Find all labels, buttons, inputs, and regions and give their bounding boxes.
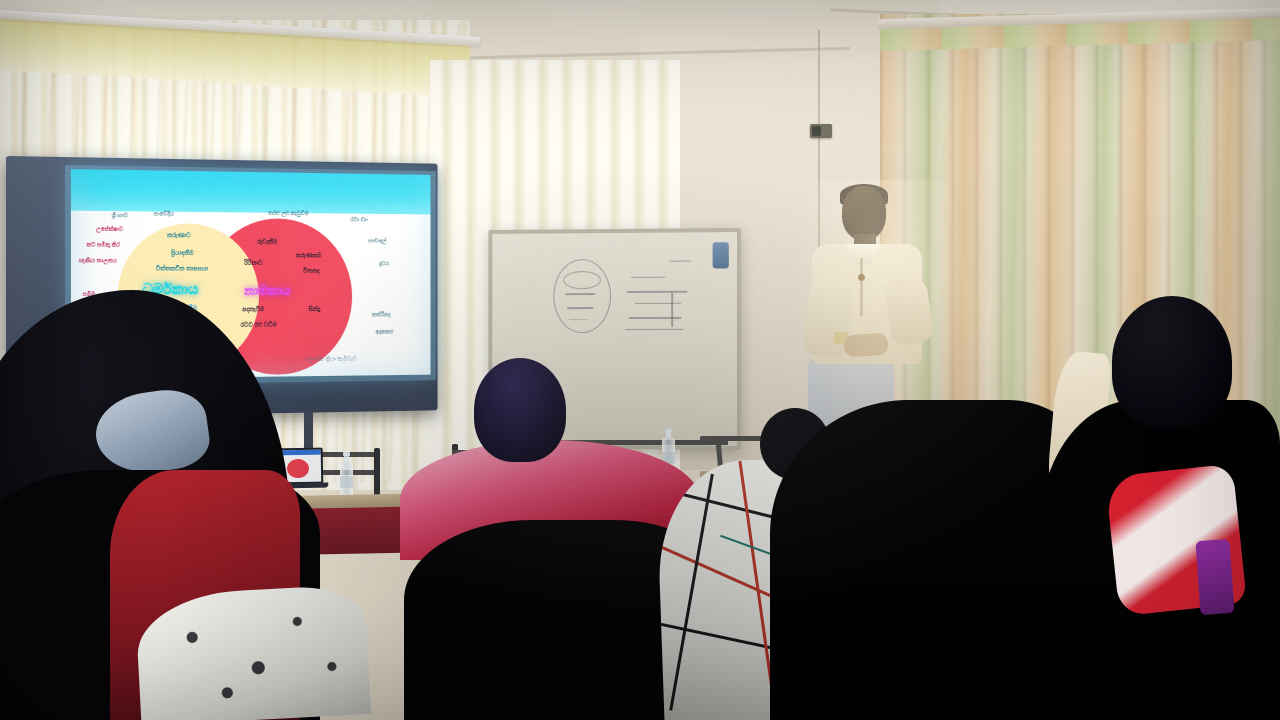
- slide-outer-word: තරඑ ලඑ කැවුවිම: [268, 211, 308, 217]
- slide-inner-word-pink: පදකැවීම: [242, 307, 264, 313]
- attendee-far-right-head: [1112, 296, 1232, 428]
- wall-sensor-device: [810, 124, 832, 138]
- slide-outer-word: ශ්‍රී භාව: [112, 213, 128, 219]
- slide-inner-word-pink: රිරිනාව: [244, 261, 262, 267]
- slide-outer-word: කට සමීකු කිර: [86, 242, 119, 248]
- whiteboard-eraser: [713, 242, 729, 268]
- presenter-shirt-button: [858, 274, 865, 281]
- presenter-right-arm: [884, 275, 935, 346]
- whiteboard-oval-inner: [563, 271, 601, 289]
- slide-inner-word-pink: රුවැකීම: [257, 240, 277, 246]
- photo-scene: ශ්‍රී භාව සංවේදීය උපේක්ෂාව කට සමීකු කිර …: [0, 0, 1280, 720]
- slide-outer-word: ඥාණීය තාලනය: [79, 258, 117, 264]
- slide-inner-word-pink: කරුණකම: [296, 253, 322, 259]
- slide-outer-word: උපේක්ෂාව: [96, 227, 123, 233]
- slide-footer-right: ලෞකික ක්‍රියා කැමිවැඩ: [305, 357, 357, 364]
- chair-post: [374, 448, 380, 500]
- slide-inner-word-pink: සින්දු: [309, 307, 321, 313]
- presenter-shirt-placket: [860, 258, 863, 316]
- slide-inner-word-pink: රටට රඑ වඩිම: [240, 323, 276, 329]
- slide-inner-word-yellow: කරුණාව: [167, 233, 190, 240]
- slide-outer-word: සංවේදීය: [154, 212, 174, 218]
- presenter-folded-hands: [843, 332, 888, 357]
- slide-outer-word: භාවාදාල්: [368, 239, 386, 245]
- slide-inner-word-pink: විතතද: [303, 269, 320, 275]
- slide-outer-word: අදකකඑ: [375, 330, 393, 336]
- slide-title-banner: [71, 169, 431, 214]
- presenter-head: [842, 186, 886, 240]
- attendee-far-right-purple-accent: [1195, 539, 1234, 615]
- slide-outer-word: රටා ඩාං: [350, 217, 368, 223]
- slide-inner-word-yellow: විත්තකවීන තාපසයා: [156, 266, 209, 272]
- slide-outer-word: කත්රීනද: [372, 313, 391, 319]
- attendee-center-head: [474, 358, 566, 462]
- whiteboard-oval-sketch: [553, 259, 611, 333]
- slide-title-namakaya: නාමකාය: [244, 284, 290, 297]
- slide-inner-word-yellow: ප්‍රියාදකීම: [171, 251, 194, 257]
- slide-outer-word: දැවය: [379, 261, 389, 267]
